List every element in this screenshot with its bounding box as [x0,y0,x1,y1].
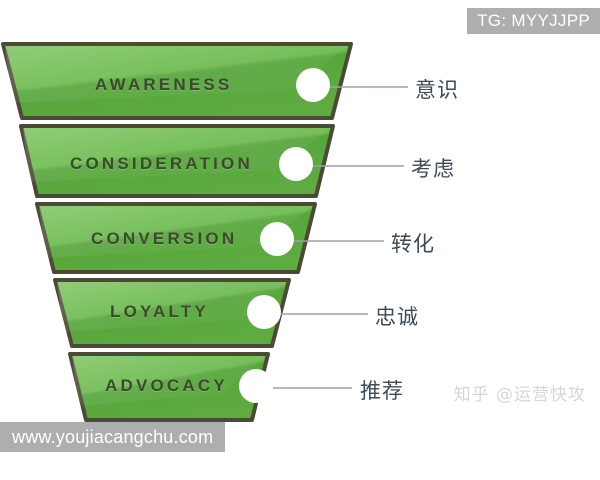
funnel-stage-loyalty[interactable] [55,280,368,346]
stage-cn-label-consideration: 考虑 [411,153,455,183]
tg-channel-badge: TG: MYYJJPP [467,8,600,34]
stage-label-conversion: CONVERSION [91,229,237,249]
stage-cn-label-advocacy: 推荐 [360,375,404,405]
stage-cn-label-loyalty: 忠诚 [375,301,419,331]
stage-cn-label-awareness: 意识 [415,74,459,104]
funnel-stage-marker[interactable] [260,222,294,256]
stage-cn-label-conversion: 转化 [391,228,435,258]
funnel-stage-marker[interactable] [296,68,330,102]
funnel-stage-marker[interactable] [247,295,281,329]
website-url-badge: www.youjiacangchu.com [0,422,225,452]
funnel-svg [0,0,600,480]
stage-label-advocacy: ADVOCACY [105,376,228,396]
zhihu-watermark: 知乎 @运营快攻 [454,380,586,405]
funnel-stage-marker[interactable] [239,369,273,403]
funnel-stage-marker[interactable] [279,147,313,181]
stage-label-consideration: CONSIDERATION [70,154,253,174]
funnel-diagram: AWARENESS CONSIDERATION CONVERSION LOYAL… [0,0,600,480]
stage-label-loyalty: LOYALTY [110,302,209,322]
stage-label-awareness: AWARENESS [95,75,232,95]
